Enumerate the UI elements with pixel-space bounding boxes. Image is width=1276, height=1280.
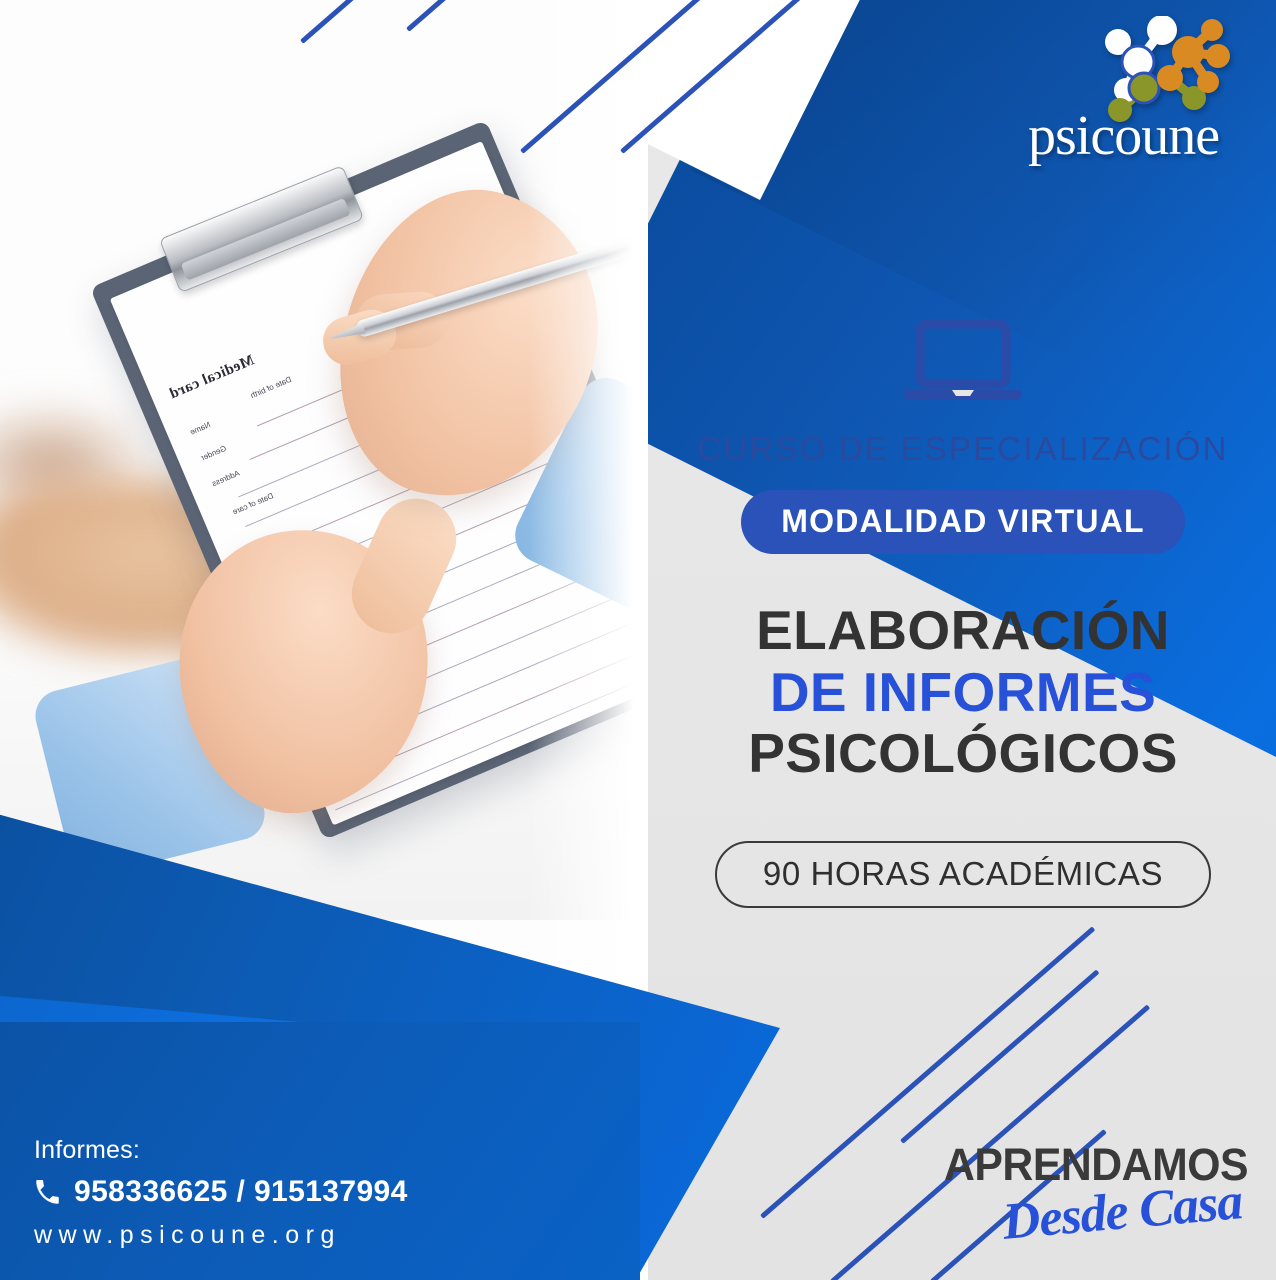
paper-label-date-of-care: Date of care	[231, 491, 275, 516]
phone-icon	[34, 1179, 61, 1206]
course-title-line-2: DE INFORMES	[668, 662, 1258, 724]
paper-label-name: Name	[189, 420, 212, 437]
contact-website[interactable]: www.psicoune.org	[34, 1221, 408, 1250]
modality-badge: MODALIDAD VIRTUAL	[741, 490, 1184, 554]
paper-label-address: Address	[211, 469, 242, 489]
tagline-block: APRENDAMOS Desde Casa	[928, 1142, 1248, 1252]
contact-phone-numbers: 958336625 / 915137994	[74, 1175, 408, 1209]
paper-label-gender: Gender	[200, 444, 228, 463]
contact-label: Informes:	[34, 1136, 408, 1165]
contact-block: Informes: 958336625 / 915137994 www.psic…	[34, 1136, 408, 1250]
contact-phone-row[interactable]: 958336625 / 915137994	[34, 1175, 408, 1209]
logo-wordmark: psicoune	[1028, 108, 1252, 164]
laptop-icon	[904, 320, 1022, 406]
course-kicker: CURSO DE ESPECIALIZACIÓN	[668, 430, 1258, 468]
photo-right-fade	[528, 0, 648, 1030]
brand-logo[interactable]: psicoune	[1022, 16, 1252, 166]
course-title: ELABORACIÓN DE INFORMES PSICOLÓGICOS	[668, 600, 1258, 785]
promotional-poster: Medical card Call Name Gender Address Da…	[0, 0, 1276, 1280]
course-title-line-3: PSICOLÓGICOS	[668, 723, 1258, 785]
paper-title: Medical card	[167, 352, 257, 403]
hours-badge: 90 HORAS ACADÉMICAS	[715, 841, 1211, 908]
paper-label-date-of-birth: Date of birth	[249, 375, 293, 400]
course-content: CURSO DE ESPECIALIZACIÓN MODALIDAD VIRTU…	[668, 320, 1258, 908]
course-title-line-1: ELABORACIÓN	[668, 600, 1258, 662]
